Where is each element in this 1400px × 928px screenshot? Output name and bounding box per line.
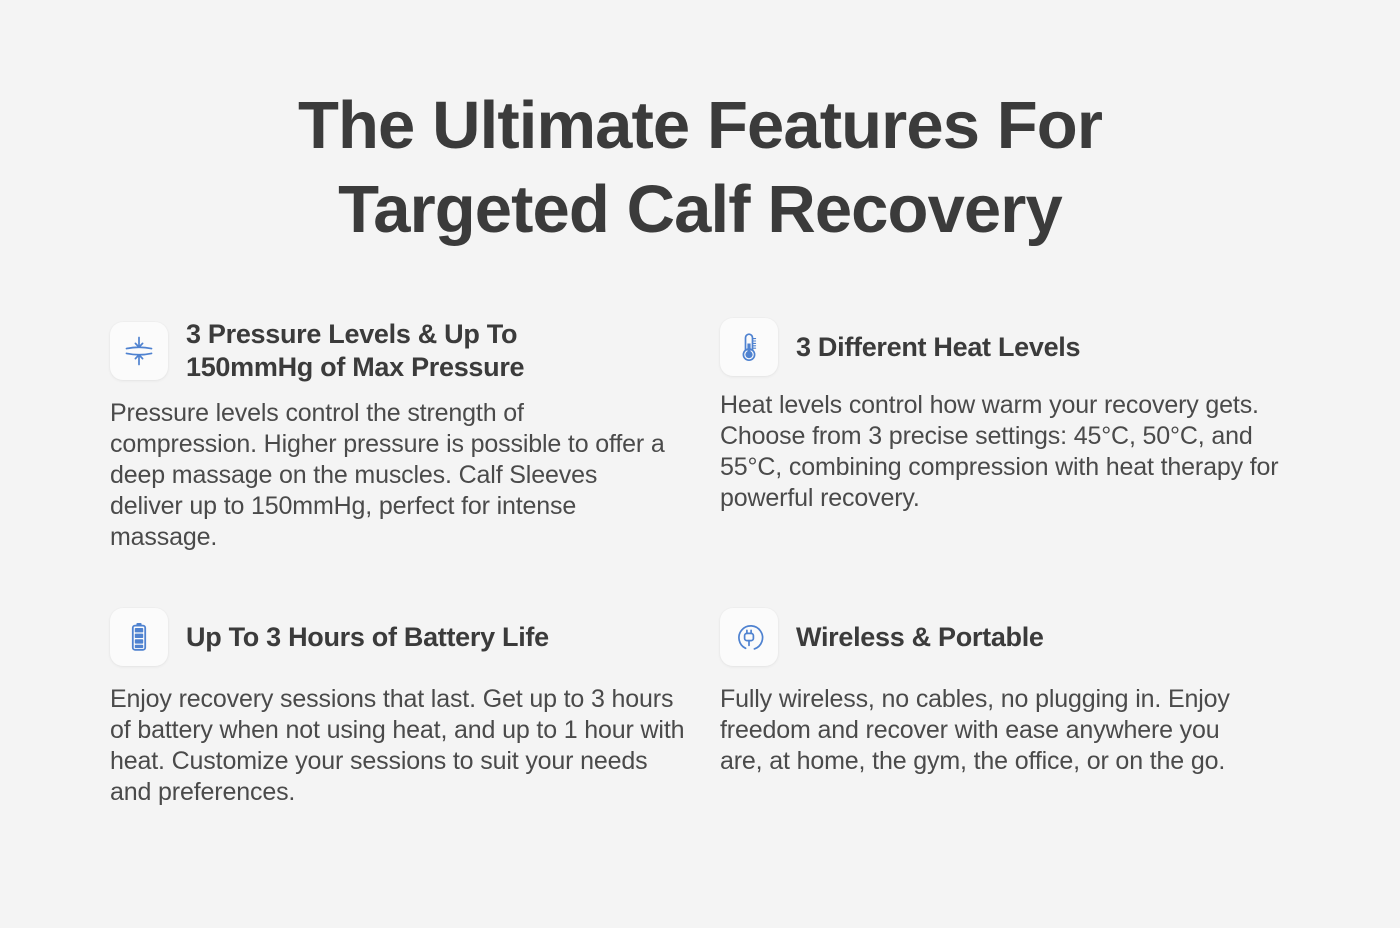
page-title: The Ultimate Features For Targeted Calf … [0, 0, 1400, 252]
feature-section: The Ultimate Features For Targeted Calf … [0, 0, 1400, 928]
feature-title-heat: 3 Different Heat Levels [796, 331, 1080, 364]
feature-card-heat: 3 Different Heat Levels Heat levels cont… [720, 318, 1300, 553]
feature-card-pressure: 3 Pressure Levels & Up To 150mmHg of Max… [110, 318, 720, 553]
feature-body-battery: Enjoy recovery sessions that last. Get u… [110, 684, 685, 808]
feature-header-heat: 3 Different Heat Levels [720, 318, 1300, 376]
wireless-plug-icon [720, 608, 778, 666]
feature-header-wireless: Wireless & Portable [720, 608, 1300, 666]
compression-arrows-icon [110, 322, 168, 380]
feature-body-pressure: Pressure levels control the strength of … [110, 398, 670, 553]
battery-icon [110, 608, 168, 666]
feature-title-pressure: 3 Pressure Levels & Up To 150mmHg of Max… [186, 318, 586, 384]
feature-grid: 3 Pressure Levels & Up To 150mmHg of Max… [0, 318, 1400, 808]
feature-body-heat: Heat levels control how warm your recove… [720, 390, 1292, 514]
feature-title-battery: Up To 3 Hours of Battery Life [186, 621, 549, 654]
feature-card-wireless: Wireless & Portable Fully wireless, no c… [720, 608, 1300, 808]
feature-header-pressure: 3 Pressure Levels & Up To 150mmHg of Max… [110, 318, 720, 384]
feature-title-wireless: Wireless & Portable [796, 621, 1044, 654]
feature-header-battery: Up To 3 Hours of Battery Life [110, 608, 720, 666]
feature-card-battery: Up To 3 Hours of Battery Life Enjoy reco… [110, 608, 720, 808]
feature-body-wireless: Fully wireless, no cables, no plugging i… [720, 684, 1265, 777]
page-title-line-1: The Ultimate Features For [150, 84, 1250, 168]
page-title-line-2: Targeted Calf Recovery [150, 168, 1250, 252]
thermometer-icon [720, 318, 778, 376]
